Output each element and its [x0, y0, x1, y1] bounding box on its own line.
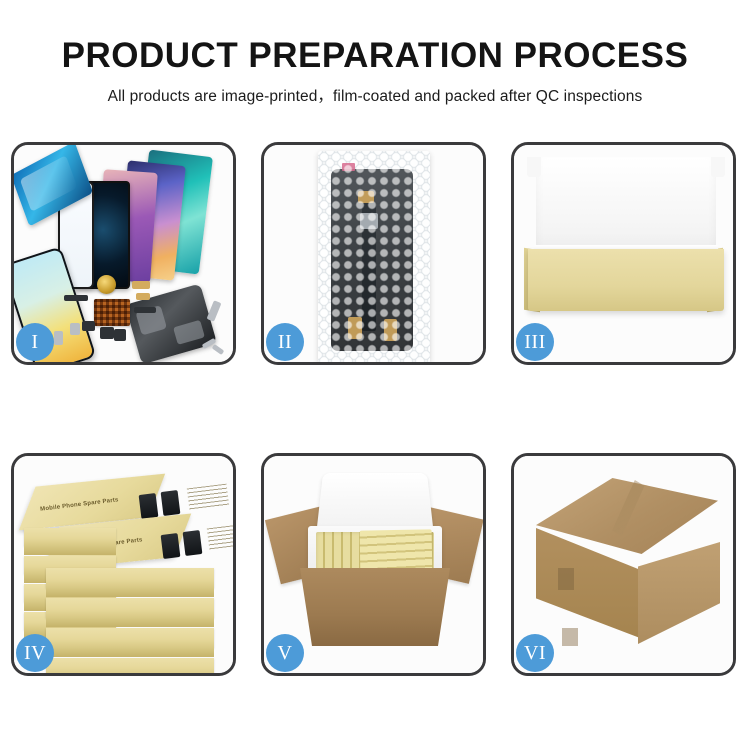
box-thumbnail-1b — [161, 490, 181, 516]
step-badge-5: V — [266, 634, 304, 672]
spare-part-camera — [100, 327, 114, 339]
process-step-3: III — [511, 142, 736, 365]
process-step-2: II — [261, 142, 486, 365]
carton-right-face — [638, 542, 720, 644]
spare-part-tool — [207, 300, 222, 322]
copper-coil-part — [97, 275, 116, 294]
header: PRODUCT PREPARATION PROCESS All products… — [0, 0, 750, 106]
box-thumbnail-2b — [183, 530, 203, 556]
carton-body — [300, 568, 450, 646]
flex-connector-pad — [360, 213, 378, 229]
foam-box-lid — [317, 473, 434, 530]
spare-part-gold-2 — [136, 293, 150, 300]
carton-tab-lower — [562, 628, 578, 646]
product-preparation-infographic: PRODUCT PREPARATION PROCESS All products… — [0, 0, 750, 750]
spare-part-flex-cable — [134, 307, 156, 313]
spare-part-chip-1 — [70, 323, 80, 335]
spare-part-speaker — [114, 329, 126, 341]
spare-part-gold-1 — [132, 281, 150, 289]
process-step-1: I — [11, 142, 236, 365]
process-step-5: V — [261, 453, 486, 676]
carton-tab-upper — [558, 568, 574, 590]
pink-qc-label — [342, 163, 355, 171]
box-thumbnail-2a — [161, 533, 181, 559]
stacked-box-5 — [46, 568, 214, 588]
stacked-box-1 — [24, 528, 116, 546]
spare-part-strip-1 — [64, 295, 88, 301]
page-subtitle: All products are image-printed，film-coat… — [0, 75, 750, 106]
spare-part-screw-2 — [212, 344, 225, 355]
box-thumbnail-1a — [139, 493, 159, 519]
gold-connector-bottom-right — [384, 319, 397, 341]
gold-connector-bottom-left — [348, 317, 362, 339]
spare-part-sim-tray — [54, 331, 63, 345]
spare-part-chip-2 — [82, 321, 95, 331]
chip-grid-part — [94, 299, 130, 326]
step-badge-2: II — [266, 323, 304, 361]
step-badge-6: VI — [516, 634, 554, 672]
stacked-box-6 — [46, 598, 214, 618]
page-title: PRODUCT PREPARATION PROCESS — [0, 0, 750, 75]
stacked-box-7 — [46, 628, 214, 648]
box-spec-lines-1 — [187, 484, 229, 511]
bubble-wrap-package — [318, 151, 430, 362]
step-badge-3: III — [516, 323, 554, 361]
process-step-4: Mobile Phone Spare Parts Mobile Phone Sp… — [11, 453, 236, 676]
stacked-box-8 — [46, 658, 214, 673]
step-badge-4: IV — [16, 634, 54, 672]
process-steps-grid: I II — [11, 142, 739, 676]
box-base-kraft — [528, 249, 724, 311]
process-step-6: VI — [511, 453, 736, 676]
step-badge-1: I — [16, 323, 54, 361]
gold-connector-top — [358, 191, 374, 203]
box-spec-lines-2 — [207, 524, 233, 551]
